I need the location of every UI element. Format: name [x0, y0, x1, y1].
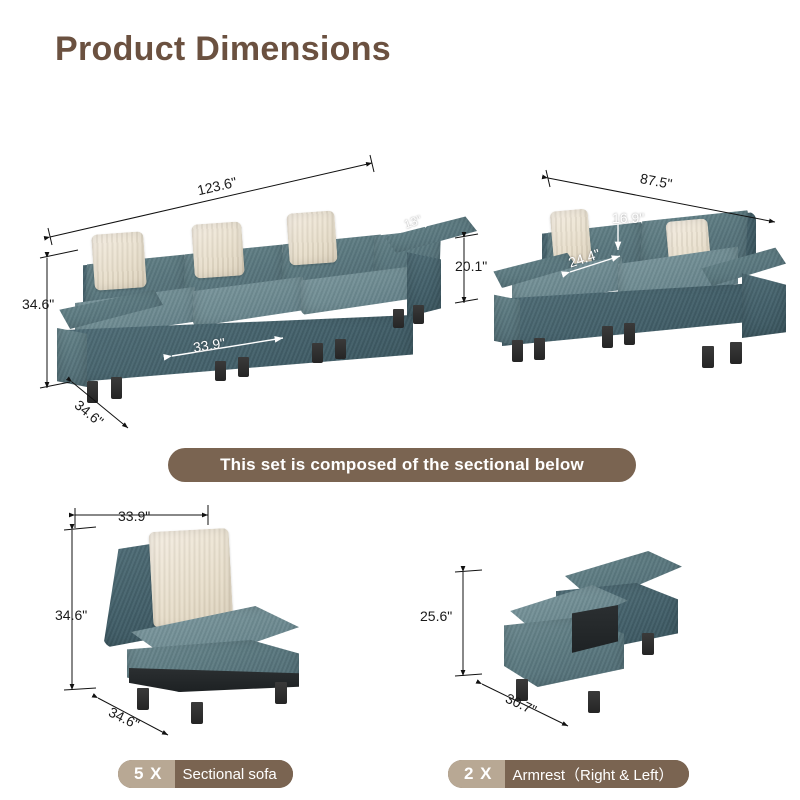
sofa-leg-2	[111, 377, 122, 399]
sofa-leg-4	[238, 357, 249, 377]
dim-loveseat-back-height: 16.9"	[612, 210, 644, 226]
sofa-leg-1	[87, 381, 98, 403]
sofa-throw-pillow-3	[286, 210, 338, 265]
loveseat-base-right-side	[742, 266, 786, 338]
product-armrest-pair	[490, 545, 700, 705]
badge-sectional-sofa-name: Sectional sofa	[175, 760, 293, 788]
module-throw-pillow	[149, 528, 234, 628]
armrest-front-leg-2	[588, 691, 600, 713]
module-leg-1	[137, 688, 149, 710]
infographic-canvas: Product Dimensions	[0, 0, 800, 800]
badge-sectional-sofa-qty: 5 X	[118, 760, 175, 788]
page-title: Product Dimensions	[55, 30, 391, 69]
dim-seat-height: 20.1"	[455, 258, 487, 274]
sofa-leg-7	[393, 309, 404, 328]
badge-armrest: 2 X Armrest（Right & Left）	[448, 760, 689, 788]
badge-armrest-name: Armrest（Right & Left）	[505, 760, 690, 788]
dim-sofa-overall-height: 34.6"	[22, 296, 54, 312]
composition-banner: This set is composed of the sectional be…	[168, 448, 636, 482]
badge-armrest-qty: 2 X	[448, 760, 505, 788]
armrest-rear-leg-2	[642, 633, 654, 655]
loveseat-leg-1	[512, 340, 523, 362]
badge-sectional-sofa: 5 X Sectional sofa	[118, 760, 293, 788]
loveseat-leg-4	[624, 323, 635, 345]
product-sectional-module	[95, 520, 315, 710]
loveseat-leg-2	[534, 338, 545, 360]
sofa-leg-8	[413, 305, 424, 324]
module-leg-2	[191, 702, 203, 724]
dim-module-width: 33.9"	[118, 508, 150, 524]
loveseat-leg-6	[730, 342, 742, 364]
dim-loveseat-overall-width: 87.5"	[639, 170, 674, 192]
dim-module-height: 34.6"	[55, 607, 87, 623]
loveseat-leg-5	[702, 346, 714, 368]
loveseat-leg-3	[602, 326, 613, 348]
sofa-leg-5	[312, 343, 323, 363]
sofa-throw-pillow-2	[191, 221, 245, 278]
sofa-leg-3	[215, 361, 226, 381]
dim-armrest-height: 25.6"	[420, 608, 452, 624]
sofa-throw-pillow-1	[91, 231, 147, 290]
sofa-leg-6	[335, 339, 346, 359]
module-leg-3	[275, 682, 287, 704]
